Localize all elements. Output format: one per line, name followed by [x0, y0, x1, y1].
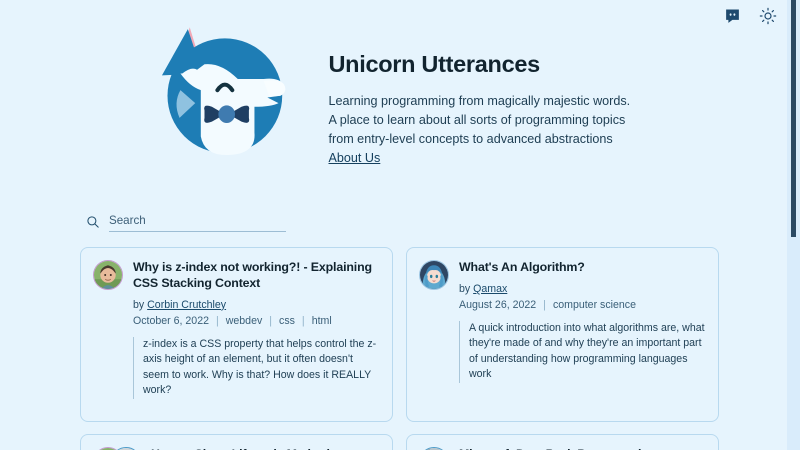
post-tag[interactable]: webdev	[226, 314, 263, 329]
site-description-line-3: from entry-level concepts to advanced ab…	[329, 132, 613, 146]
post-content: What's An Algorithm? by Qamax August 26,…	[459, 259, 706, 393]
author-avatars	[93, 259, 123, 291]
meta-separator: |	[216, 314, 219, 329]
post-date: August 26, 2022	[459, 298, 536, 313]
about-us-link[interactable]: About Us	[329, 151, 381, 165]
meta-separator: |	[543, 298, 546, 313]
post-byline: by Qamax	[459, 282, 706, 296]
post-tag[interactable]: computer science	[553, 298, 636, 313]
post-title[interactable]: What's An Algorithm?	[459, 260, 706, 276]
search-input[interactable]	[109, 212, 286, 232]
hero-text: Unicorn Utterances Learning programming …	[329, 18, 659, 167]
post-card[interactable]: How to Share Lifecycle Methods Between C…	[80, 434, 393, 450]
post-tag[interactable]: css	[279, 314, 295, 329]
author-avatars	[419, 259, 449, 291]
scrollbar-thumb[interactable]	[791, 0, 796, 237]
post-excerpt: z-index is a CSS property that helps con…	[133, 337, 380, 399]
meta-separator: |	[302, 314, 305, 329]
site-description-line-2: A place to learn about all sorts of prog…	[329, 113, 626, 127]
search-bar	[86, 212, 286, 232]
post-date: October 6, 2022	[133, 314, 209, 329]
post-meta: October 6, 2022 | webdev | css | html	[133, 314, 380, 329]
post-content: How to Share Lifecycle Methods Between C…	[151, 446, 380, 450]
post-card[interactable]: What's An Algorithm? by Qamax August 26,…	[406, 247, 719, 422]
search-icon	[86, 215, 100, 229]
page-title: Unicorn Utterances	[329, 52, 659, 78]
post-meta: August 26, 2022 | computer science	[459, 298, 706, 313]
post-list: Why is z-index not working?! - Explainin…	[80, 247, 725, 450]
post-card[interactable]: Why is z-index not working?! - Explainin…	[80, 247, 393, 422]
avatar	[419, 260, 449, 290]
author-link[interactable]: Qamax	[473, 283, 507, 295]
hero-section: Unicorn Utterances Learning programming …	[0, 18, 787, 167]
meta-separator: |	[269, 314, 272, 329]
avatar	[93, 260, 123, 290]
post-tag[interactable]: html	[312, 314, 332, 329]
post-content: Why is z-index not working?! - Explainin…	[133, 259, 380, 409]
post-card[interactable]: Minecraft Data Pack Programming: Scorebo…	[406, 434, 719, 450]
unicorn-mascot-logo	[149, 18, 297, 166]
site-description-line-1: Learning programming from magically maje…	[329, 94, 631, 108]
by-label: by	[133, 299, 144, 311]
post-excerpt: A quick introduction into what algorithm…	[459, 321, 706, 383]
page-root: Unicorn Utterances Learning programming …	[0, 0, 800, 450]
author-avatars	[93, 446, 141, 450]
by-label: by	[459, 283, 470, 295]
post-byline: by Corbin Crutchley	[133, 298, 380, 312]
author-link[interactable]: Corbin Crutchley	[147, 299, 226, 311]
page-scrollbar[interactable]	[787, 0, 800, 450]
author-avatars	[419, 446, 449, 450]
site-description: Learning programming from magically maje…	[329, 92, 659, 149]
post-content: Minecraft Data Pack Programming: Scorebo…	[459, 446, 706, 450]
post-title[interactable]: Why is z-index not working?! - Explainin…	[133, 260, 380, 292]
